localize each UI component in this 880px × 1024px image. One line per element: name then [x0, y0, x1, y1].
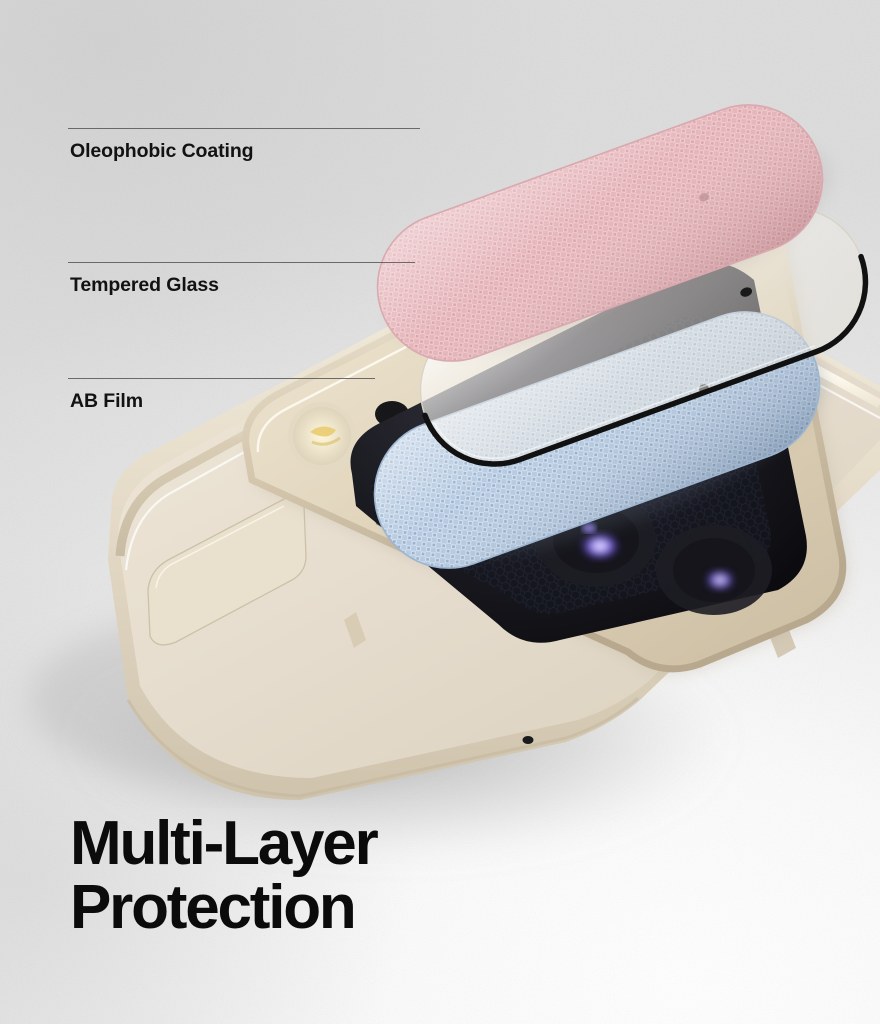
- headline: Multi-Layer Protection: [70, 812, 377, 940]
- microphone-hole: [523, 736, 534, 744]
- camera-lens-3: [656, 525, 772, 615]
- headline-line-2: Protection: [70, 876, 377, 940]
- callout-oleophobic-coating: Oleophobic Coating: [0, 128, 480, 163]
- product-image-stage: Oleophobic Coating Tempered Glass AB Fil…: [0, 0, 880, 1024]
- callout-tempered-glass: Tempered Glass: [0, 262, 480, 297]
- headline-line-1: Multi-Layer: [70, 809, 377, 878]
- callout-leader-line: [68, 378, 375, 379]
- callout-ab-film: AB Film: [0, 378, 480, 413]
- callout-leader-line: [68, 262, 415, 263]
- callout-label: Tempered Glass: [70, 274, 480, 297]
- callout-label: AB Film: [70, 390, 480, 413]
- callout-label: Oleophobic Coating: [70, 140, 480, 163]
- callout-leader-line: [68, 128, 420, 129]
